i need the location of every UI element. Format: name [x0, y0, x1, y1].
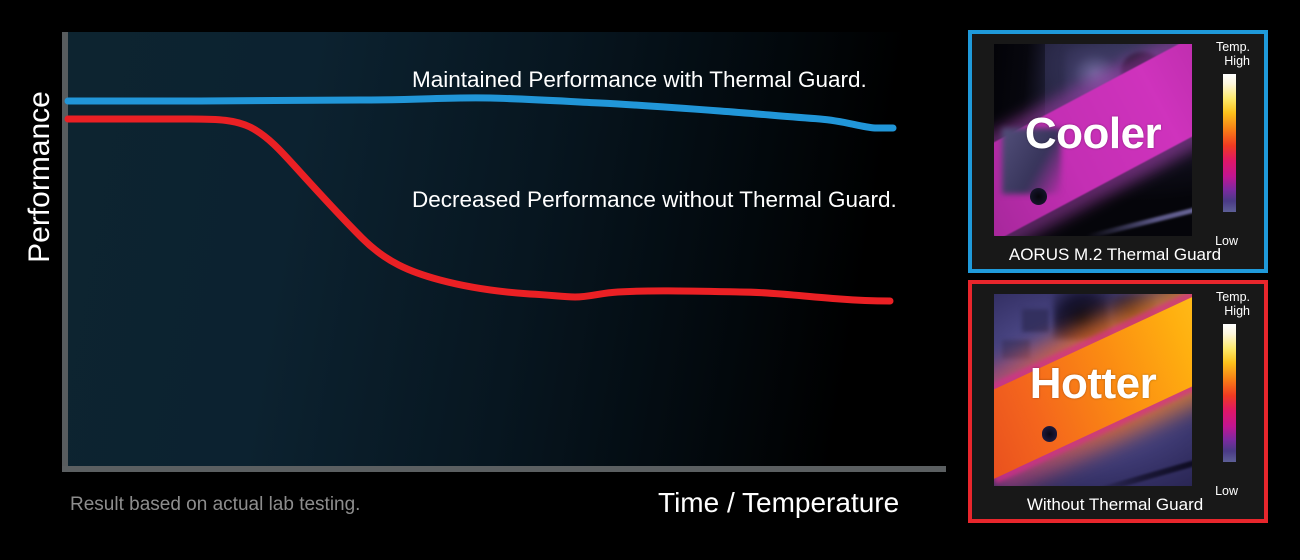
overlay-word-cooler: Cooler [994, 109, 1192, 159]
thermal-image-cooler: Cooler [994, 44, 1192, 236]
caption-without-thermal-guard: Without Thermal Guard [972, 495, 1264, 515]
thermal-card-inner: Cooler Temp. High Low AORUS M.2 Thermal … [972, 34, 1264, 269]
caption-aorus-thermal-guard: AORUS M.2 Thermal Guard [972, 245, 1264, 265]
temp-scale-title: Temp. [1194, 40, 1250, 54]
x-axis-title: Time / Temperature [658, 487, 899, 519]
thermal-component-chip-a [1022, 309, 1050, 332]
temperature-scale-cooler: Temp. High Low [1194, 40, 1250, 242]
temp-scale-high-label: High [1194, 304, 1250, 318]
thermal-guard-infographic: Performance Maintained Performance with … [0, 0, 1300, 560]
plot-background [68, 32, 946, 466]
thermal-card-cooler: Cooler Temp. High Low AORUS M.2 Thermal … [968, 30, 1268, 273]
plot-area [62, 32, 946, 472]
temperature-scale-hotter: Temp. High Low [1194, 290, 1250, 492]
thermal-screw-icon [1042, 426, 1058, 441]
thermal-card-inner: Hotter Temp. High Low Without Thermal Gu… [972, 284, 1264, 519]
temp-gradient-bar [1223, 74, 1236, 212]
temp-scale-high-label: High [1194, 54, 1250, 68]
annotation-maintained-performance: Maintained Performance with Thermal Guar… [412, 67, 867, 93]
temp-gradient-bar [1223, 324, 1236, 462]
x-axis-line [62, 466, 946, 472]
annotation-decreased-performance: Decreased Performance without Thermal Gu… [412, 187, 897, 213]
thermal-image-hotter: Hotter [994, 294, 1192, 486]
temp-scale-title: Temp. [1194, 290, 1250, 304]
y-axis-title: Performance [23, 77, 57, 277]
thermal-card-hotter: Hotter Temp. High Low Without Thermal Gu… [968, 280, 1268, 523]
y-axis-line [62, 32, 68, 472]
performance-chart-panel: Performance Maintained Performance with … [0, 0, 955, 560]
overlay-word-hotter: Hotter [994, 359, 1192, 409]
chart-footnote: Result based on actual lab testing. [70, 494, 360, 516]
